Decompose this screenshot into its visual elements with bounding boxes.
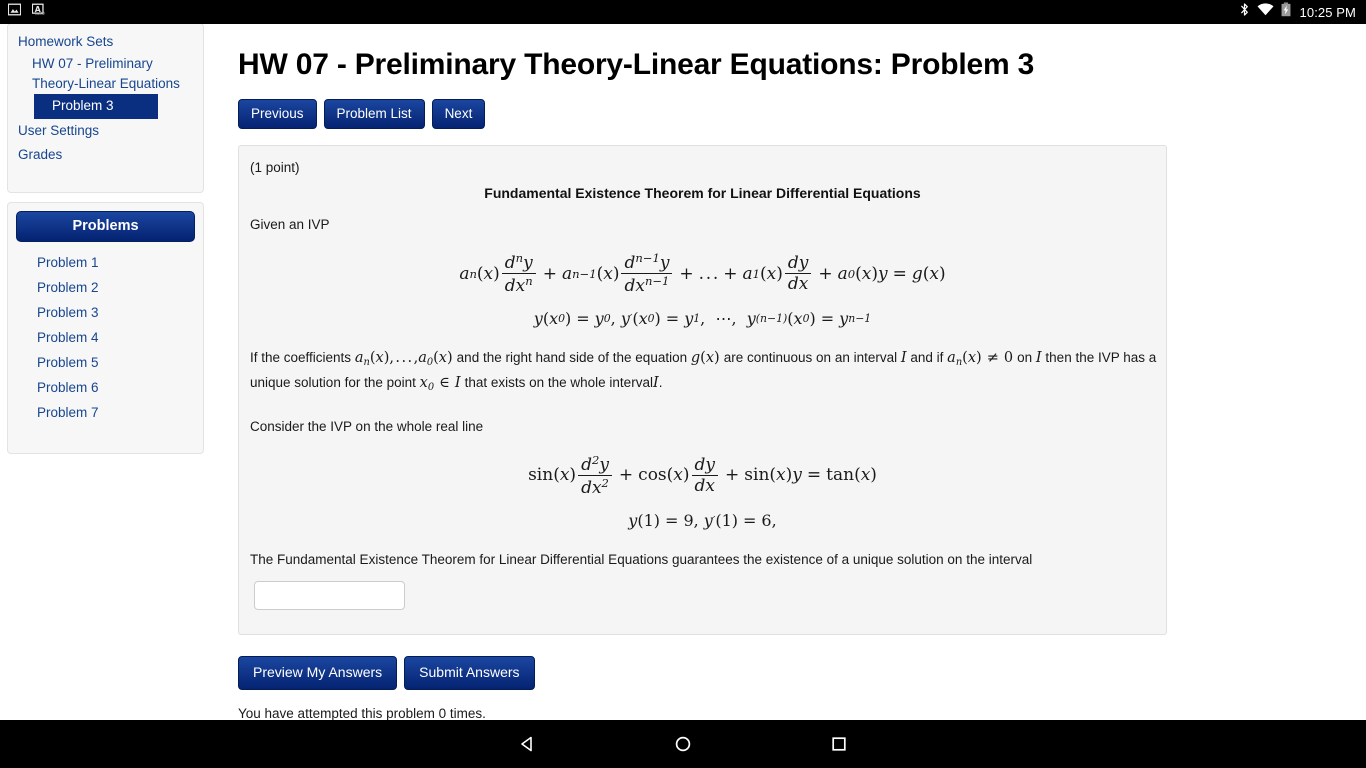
screenshot-icon (8, 3, 21, 21)
sidebar-item-grades[interactable]: Grades (8, 143, 203, 167)
sidebar-item-hw07[interactable]: HW 07 - Preliminary Theory-Linear Equati… (8, 54, 203, 94)
problem-list-button[interactable]: Problem List (324, 99, 425, 129)
bluetooth-icon (1239, 2, 1250, 22)
sidebar-item-problem-3[interactable]: Problem 3 (34, 94, 158, 119)
submit-answers-button[interactable]: Submit Answers (404, 656, 534, 690)
svg-text:\u3042: \u3042 (35, 11, 45, 16)
theorem-body-period: . (659, 375, 663, 390)
problems-panel: Problems Problem 1 Problem 2 Problem 3 P… (7, 202, 204, 454)
page-body: Homework Sets HW 07 - Preliminary Theory… (0, 24, 1366, 720)
main-content: HW 07 - Preliminary Theory-Linear Equati… (238, 24, 1168, 742)
previous-button[interactable]: Previous (238, 99, 317, 129)
problem-link-3[interactable]: Problem 3 (16, 300, 195, 325)
android-nav-bar (0, 720, 1366, 768)
problem-link-6[interactable]: Problem 6 (16, 375, 195, 400)
status-bar-clock: 10:25 PM (1300, 5, 1356, 20)
ic-point-1: 1 (644, 511, 654, 530)
problem-body-panel: (1 point) Fundamental Existence Theorem … (238, 145, 1167, 635)
theorem-body-interval-I-2: I (1036, 350, 1042, 366)
ic-point-2: 1 (722, 511, 732, 530)
status-bar-system-icons: 10:25 PM (1239, 2, 1356, 22)
equation-problem-ode: sin(x) d2y dx2 + cos(x) dy dx + sin(x)y … (248, 454, 1157, 497)
ic-y-value: 9 (683, 511, 693, 530)
home-icon[interactable] (659, 720, 707, 768)
equation-general-form: an(x) dny dxn + an−1(x) dn−1y dxn−1 +. .… (248, 252, 1157, 295)
problem-link-4[interactable]: Problem 4 (16, 325, 195, 350)
answer-input[interactable] (254, 581, 405, 610)
equation-initial-conditions: y(x0) =y0, y′(x0) =y1, ⋯, y(n−1)(x0) =yn… (248, 309, 1157, 329)
problems-panel-header: Problems (16, 211, 195, 242)
theorem-body-text-4: and if (910, 350, 943, 365)
theorem-body-text-2: and the right hand side of the equation (457, 350, 687, 365)
theorem-title: Fundamental Existence Theorem for Linear… (248, 185, 1157, 201)
problem-link-1[interactable]: Problem 1 (16, 250, 195, 275)
preview-my-answers-button[interactable]: Preview My Answers (238, 656, 397, 690)
back-icon[interactable] (503, 720, 551, 768)
problem-nav-buttons: Previous Problem List Next (238, 99, 1168, 129)
theorem-body-interval-I-1: I (901, 350, 907, 366)
translate-icon: A \u3042 (32, 3, 45, 21)
answer-action-buttons: Preview My Answers Submit Answers (238, 656, 1168, 690)
problem-link-5[interactable]: Problem 5 (16, 350, 195, 375)
battery-charging-icon (1281, 2, 1291, 22)
problem-link-2[interactable]: Problem 2 (16, 275, 195, 300)
wifi-icon (1257, 3, 1274, 21)
theorem-body-text-5: on (1017, 350, 1032, 365)
theorem-body-coefficients-math: an(x), . . . ,a0(x) (355, 350, 457, 366)
equation-problem-initial-conditions: y(1) =9, y′(1) =6, (248, 511, 1157, 531)
sidebar-item-homework-sets[interactable]: Homework Sets (8, 30, 203, 54)
problem-link-7[interactable]: Problem 7 (16, 400, 195, 425)
question-text: The Fundamental Existence Theorem for Li… (250, 550, 1157, 570)
recents-icon[interactable] (815, 720, 863, 768)
theorem-body-text-3: are continuous on an interval (724, 350, 897, 365)
sidebar-nav-panel: Homework Sets HW 07 - Preliminary Theory… (7, 23, 204, 193)
page-title: HW 07 - Preliminary Theory-Linear Equati… (238, 44, 1168, 86)
theorem-body-x0-in-I-math: x0∈I (420, 375, 465, 391)
status-bar-notifications: A \u3042 (8, 3, 45, 21)
theorem-body-g-math: g(x) (691, 350, 724, 366)
sidebar-item-user-settings[interactable]: User Settings (8, 119, 203, 143)
ic-yprime-value: 6 (761, 511, 771, 530)
given-ivp-label: Given an IVP (250, 215, 1157, 235)
next-button[interactable]: Next (432, 99, 486, 129)
android-status-bar: A \u3042 10:25 PM (0, 0, 1366, 24)
theorem-body-paragraph: If the coefficients an(x), . . . ,a0(x) … (250, 348, 1157, 398)
points-label: (1 point) (250, 160, 1157, 175)
consider-ivp-label: Consider the IVP on the whole real line (250, 417, 1157, 437)
theorem-body-an-nonzero-math: an(x)≠0 (947, 350, 1017, 366)
theorem-body-text-1: If the coefficients (250, 350, 351, 365)
theorem-body-text-7: that exists on the whole interval (465, 375, 653, 390)
